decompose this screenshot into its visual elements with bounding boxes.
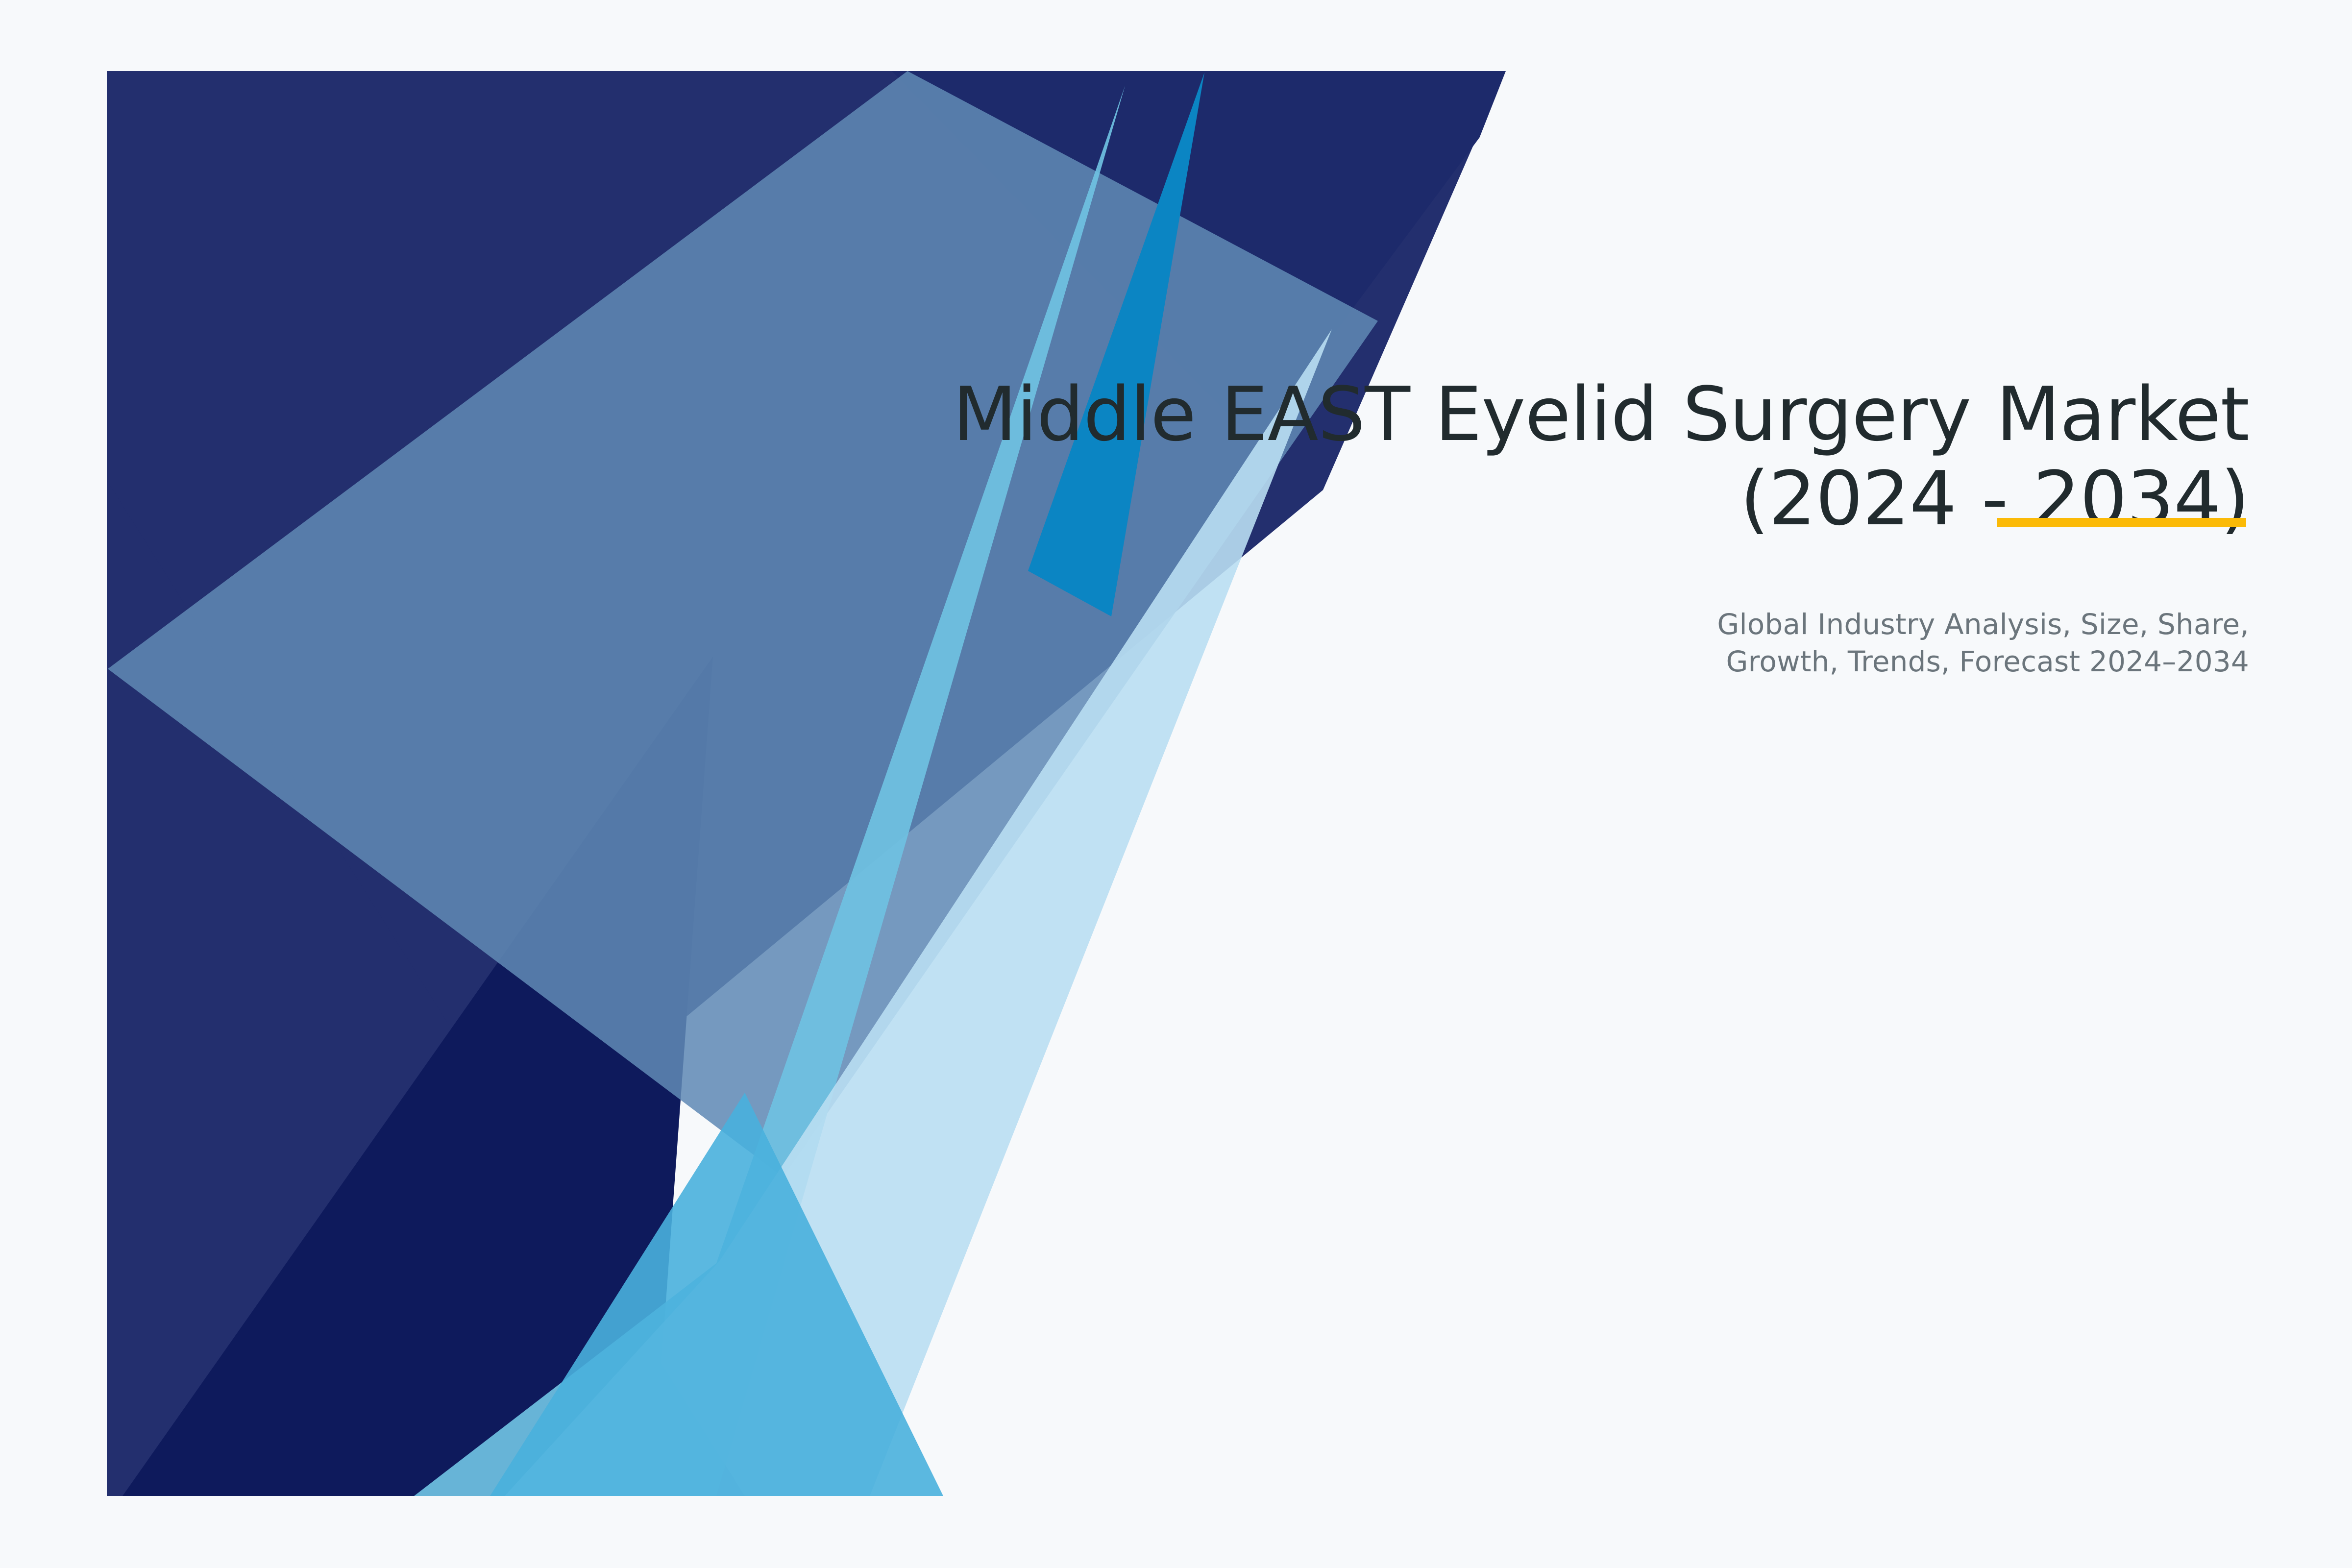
title-wrapper: Middle EAST Eyelid Surgery Market(2024 -…: [833, 372, 2249, 541]
page-title: Middle EAST Eyelid Surgery Market(2024 -…: [833, 372, 2249, 541]
title-line-1: Middle EAST Eyelid Surgery Market: [953, 371, 2249, 458]
page-subtitle: Global Industry Analysis, Size, Share,Gr…: [833, 606, 2249, 681]
report-cover: Middle EAST Eyelid Surgery Market(2024 -…: [0, 0, 2352, 1568]
title-line-2: (2024 - 2034): [1740, 455, 2249, 542]
subtitle-line-2: Growth, Trends, Forecast 2024–2034: [1726, 645, 2249, 678]
abstract-polygon-artwork: [0, 0, 2352, 1568]
title-accent-underline: [1997, 518, 2246, 527]
subtitle-line-1: Global Industry Analysis, Size, Share,: [1717, 608, 2249, 641]
cover-text-block: Middle EAST Eyelid Surgery Market(2024 -…: [833, 372, 2249, 681]
